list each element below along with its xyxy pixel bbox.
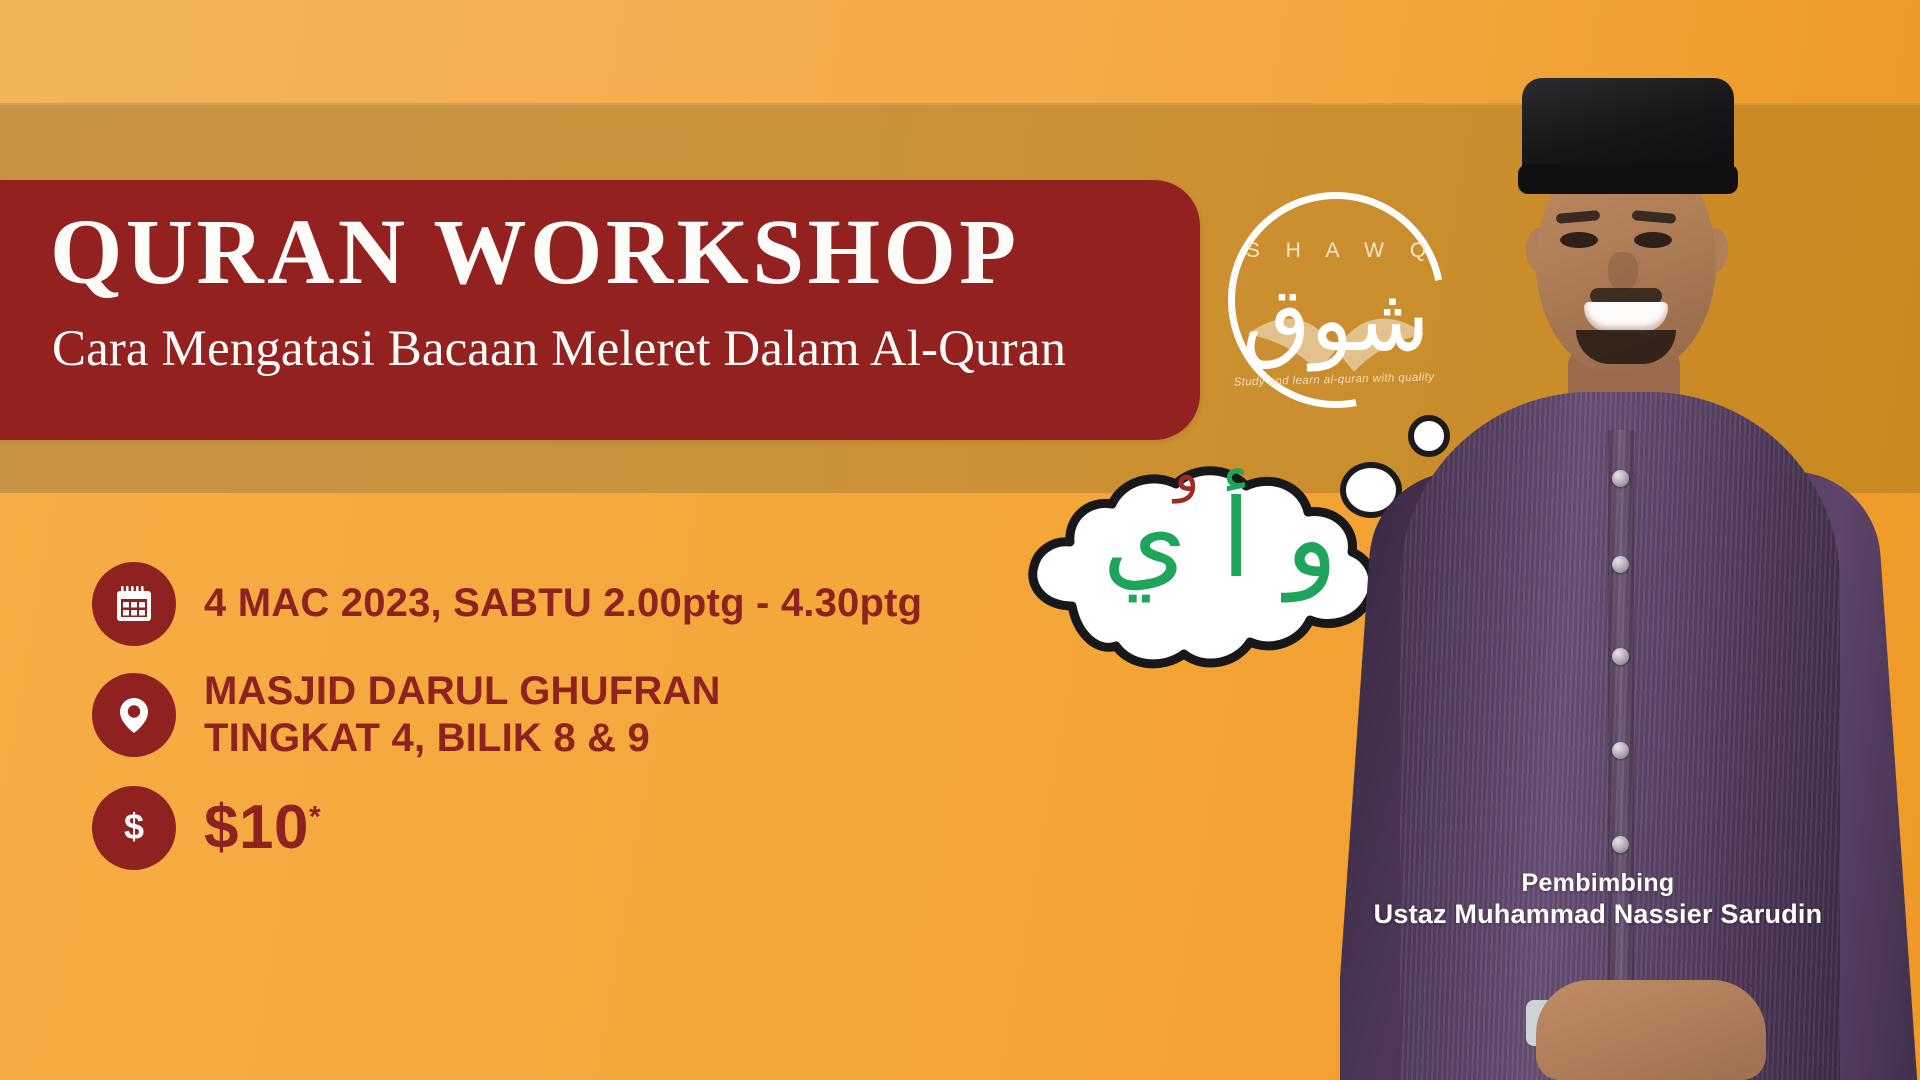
presenter-name: Ustaz Muhammad Nassier Sarudin [1318, 898, 1878, 930]
svg-text:$: $ [124, 806, 144, 847]
promo-poster: QURAN WORKSHOP Cara Mengatasi Bacaan Mel… [0, 0, 1920, 1080]
presenter-role: Pembimbing [1318, 868, 1878, 898]
event-venue-line1: MASJID DARUL GHUFRAN [204, 668, 721, 715]
thought-bubble-arabic-text: و أ ي [1010, 486, 1430, 594]
page-subtitle: Cara Mengatasi Bacaan Meleret Dalam Al-Q… [52, 324, 1066, 375]
event-details-list: 4 MAC 2023, SABTU 2.00ptg - 4.30ptg MASJ… [92, 562, 1092, 870]
presenter-shirt-placket [1608, 430, 1634, 1050]
price-badge: $ [92, 786, 176, 870]
presenter-shirt-button [1612, 556, 1629, 573]
presenter-songkok [1522, 78, 1734, 188]
page-title: QURAN WORKSHOP [50, 206, 1020, 299]
event-venue-line2: TINGKAT 4, BILIK 8 & 9 [204, 715, 721, 762]
calendar-badge [92, 562, 176, 646]
presenter-shirt-button [1612, 742, 1629, 759]
calendar-icon [111, 581, 157, 627]
location-badge [92, 673, 176, 757]
presenter-shirt-button [1612, 836, 1629, 853]
dollar-sign-icon: $ [112, 806, 156, 850]
presenter-shirt-button [1612, 648, 1629, 665]
presenter-smile [1584, 302, 1668, 332]
event-price: $10* [204, 797, 321, 859]
event-price-asterisk: * [309, 801, 321, 834]
presenter-eye-left [1560, 232, 1598, 248]
thought-bubble-harakat: و [1174, 444, 1199, 504]
presenter-eye-right [1634, 232, 1672, 248]
presenter-shirt-button [1612, 470, 1629, 487]
event-venue: MASJID DARUL GHUFRAN TINGKAT 4, BILIK 8 … [204, 668, 721, 762]
event-price-amount: $10 [204, 793, 309, 862]
presenter-nose [1608, 252, 1638, 292]
detail-row-date: 4 MAC 2023, SABTU 2.00ptg - 4.30ptg [92, 562, 1092, 646]
detail-row-venue: MASJID DARUL GHUFRAN TINGKAT 4, BILIK 8 … [92, 668, 1092, 762]
event-date-time: 4 MAC 2023, SABTU 2.00ptg - 4.30ptg [204, 580, 922, 627]
location-pin-icon [112, 693, 156, 737]
presenter-hands [1536, 980, 1766, 1080]
event-date-time-line1: 4 MAC 2023, SABTU 2.00ptg - 4.30ptg [204, 581, 922, 625]
presenter-caption: Pembimbing Ustaz Muhammad Nassier Sarudi… [1318, 868, 1878, 930]
detail-row-price: $ $10* [92, 786, 1092, 870]
